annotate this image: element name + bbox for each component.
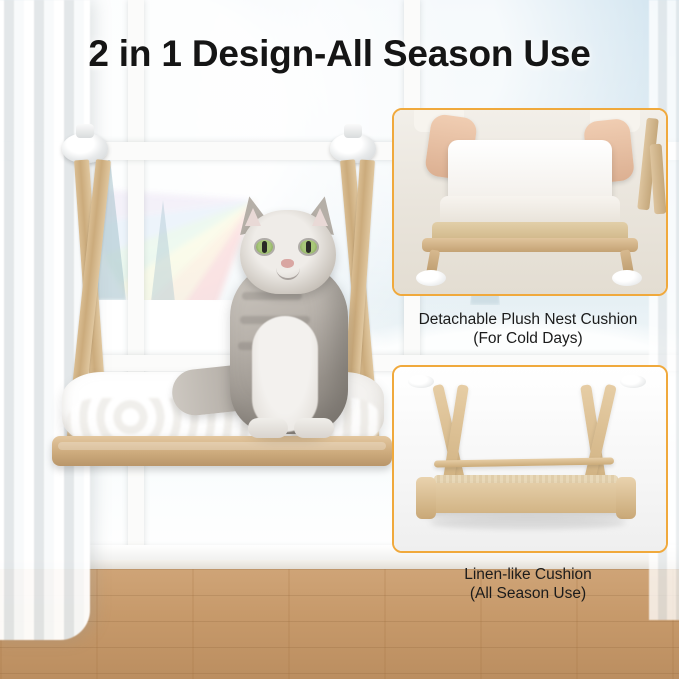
cat-pupil [306, 241, 311, 253]
cat-nose [281, 259, 294, 268]
suction-cup [416, 270, 446, 286]
inset-caption-line1: Linen-like Cushion [390, 565, 666, 584]
inset-caption-line2: (For Cold Days) [390, 329, 666, 348]
inset-card-linen-cushion [392, 365, 668, 553]
cat [196, 196, 376, 442]
cat-paw [248, 418, 288, 438]
cat-pupil [262, 241, 267, 253]
wooden-frame-rail [422, 238, 638, 252]
cat-paw [294, 418, 334, 438]
inset-caption-plush: Detachable Plush Nest Cushion (For Cold … [390, 310, 666, 348]
inset-caption-line2: (All Season Use) [390, 584, 666, 603]
curtain-left [0, 0, 90, 640]
product-infographic: 2 in 1 Design-All Season Use Detachable … [0, 0, 679, 679]
inset-caption-linen: Linen-like Cushion (All Season Use) [390, 565, 666, 603]
window-mullion-vertical [128, 0, 144, 560]
suction-cup [408, 375, 434, 388]
suction-cup [620, 375, 646, 388]
inset-card-plush-cushion [392, 108, 668, 296]
drop-shadow [430, 517, 626, 529]
suction-cup [612, 270, 642, 286]
page-title: 2 in 1 Design-All Season Use [0, 33, 679, 75]
suction-cup [62, 133, 108, 163]
frame-deck [422, 483, 630, 513]
cat-chest-fur [252, 316, 318, 432]
frame-end-cap [416, 477, 436, 519]
suction-cup-knob [76, 124, 94, 138]
suction-cup-knob [344, 124, 362, 138]
frame-end-cap [616, 477, 636, 519]
inset-caption-line1: Detachable Plush Nest Cushion [390, 310, 666, 329]
